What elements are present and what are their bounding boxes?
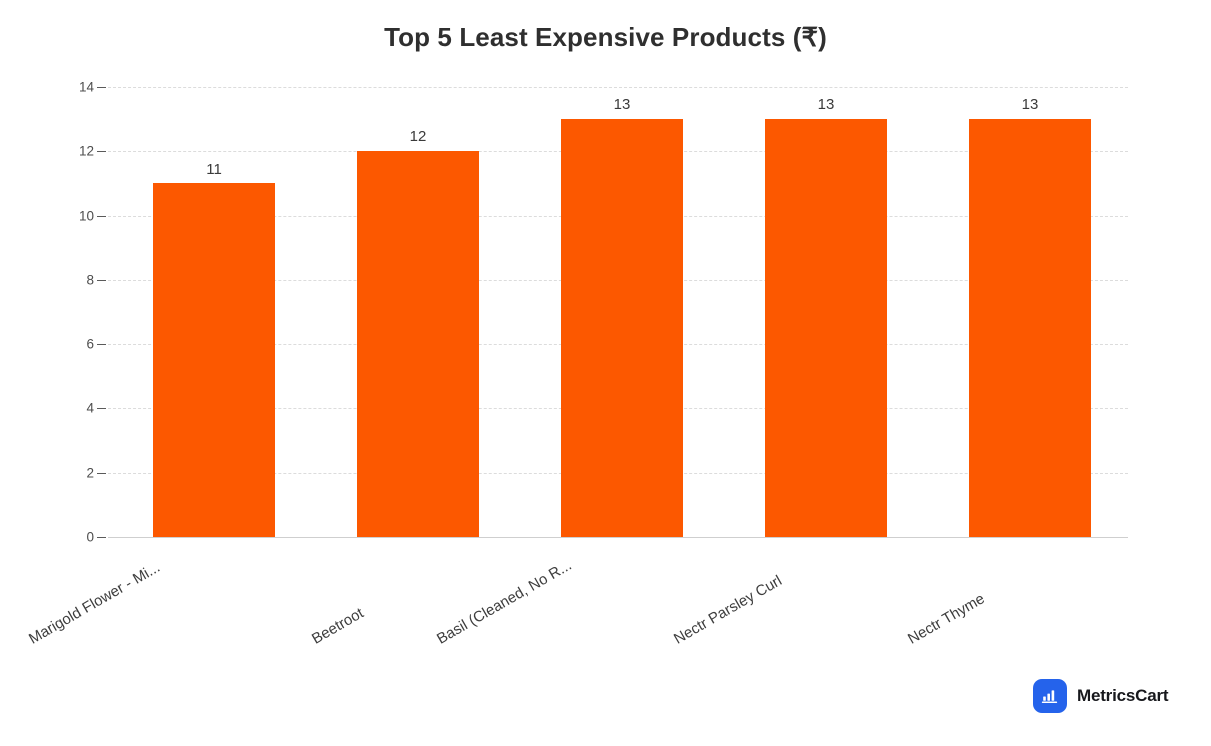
bar-basil-cleaned[interactable] [561,119,683,537]
bar-nectr-thyme[interactable] [969,119,1091,537]
bar-marigold-flower[interactable] [153,183,275,537]
bar-nectr-parsley-curl[interactable] [765,119,887,537]
x-axis-baseline [108,537,1128,538]
x-axis-label-nectr-thyme: Nectr Thyme [905,590,988,648]
tick-mark-14 [97,87,106,88]
x-axis-label-beetroot: Beetroot [309,605,367,648]
bar-value-nectr-parsley-curl: 13 [818,96,835,113]
tick-mark-0 [97,537,106,538]
bar-value-basil-cleaned: 13 [614,96,631,113]
chart-page: Top 5 Least Expensive Products (₹) 14 12… [0,0,1211,746]
bar-beetroot[interactable] [357,151,479,537]
tick-mark-4 [97,408,106,409]
bar-value-marigold-flower: 11 [206,161,222,178]
tick-mark-12 [97,151,106,152]
y-axis-label-6: 6 [62,337,94,352]
brand-name: MetricsCart [1077,686,1168,706]
tick-mark-8 [97,280,106,281]
bar-value-nectr-thyme: 13 [1022,96,1039,113]
y-axis-label-2: 2 [62,465,94,480]
tick-mark-2 [97,473,106,474]
tick-mark-6 [97,344,106,345]
y-axis-label-0: 0 [62,530,94,545]
y-axis-label-12: 12 [62,144,94,159]
x-axis-label-nectr-parsley-curl: Nectr Parsley Curl [671,572,785,648]
plot-area: 14 12 10 8 6 4 2 0 11 12 13 13 13 [108,87,1128,537]
tick-mark-10 [97,216,106,217]
chart-title: Top 5 Least Expensive Products (₹) [0,22,1211,53]
gridline-14 [108,87,1128,88]
y-axis-label-8: 8 [62,272,94,287]
x-axis-label-basil-cleaned: Basil (Cleaned, No R... [434,557,575,648]
brand-logo: MetricsCart [1033,679,1168,713]
x-axis-label-marigold-flower: Marigold Flower - Mi... [26,559,163,648]
bar-chart-icon [1033,679,1067,713]
y-axis-label-10: 10 [62,208,94,223]
y-axis-label-14: 14 [62,80,94,95]
y-axis-label-4: 4 [62,401,94,416]
bar-value-beetroot: 12 [410,128,427,145]
